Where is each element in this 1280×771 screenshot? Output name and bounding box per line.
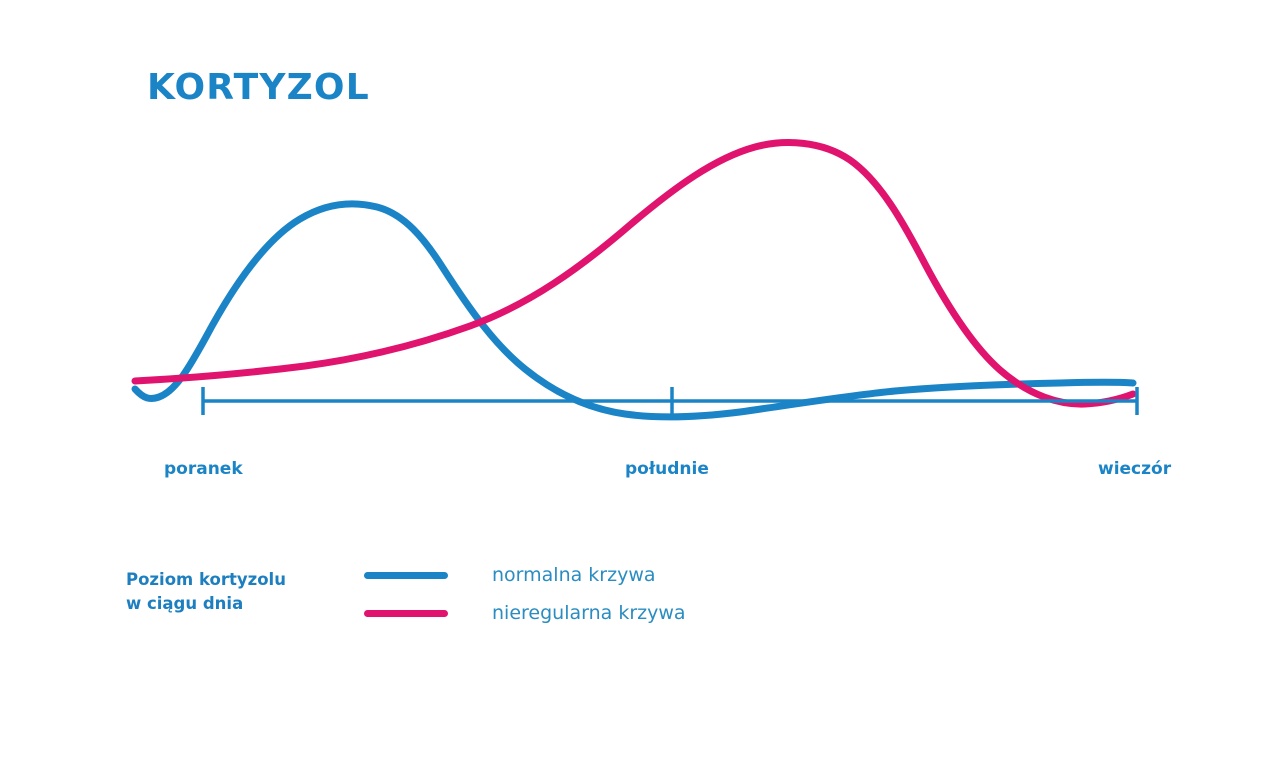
chart-legend: Poziom kortyzolu w ciągu dnia normalna k… (126, 560, 766, 640)
line-swatch-normal-icon (364, 572, 448, 579)
curve-nieregularna-krzywa (135, 143, 1133, 405)
curve-normalna-krzywa (135, 204, 1133, 417)
legend-title-line-1: Poziom kortyzolu (126, 570, 286, 589)
axis-label-poludnie: południe (625, 461, 709, 478)
axis-label-poranek: poranek (164, 461, 243, 478)
legend-title: Poziom kortyzolu w ciągu dnia (126, 568, 346, 616)
legend-label-normalna-krzywa: normalna krzywa (492, 562, 656, 589)
cortisol-infographic: KORTYZOL poranek południe wieczór Poziom… (0, 0, 1280, 771)
legend-title-line-2: w ciągu dnia (126, 592, 346, 616)
page-title: KORTYZOL (147, 70, 370, 106)
legend-items: normalna krzywa nieregularna krzywa (364, 560, 764, 636)
legend-item-normalna-krzywa: normalna krzywa (364, 560, 764, 598)
axis-label-wieczor: wieczór (1098, 461, 1171, 478)
line-swatch-irregular-icon (364, 610, 448, 617)
legend-label-nieregularna-krzywa: nieregularna krzywa (492, 600, 686, 627)
chart-canvas (0, 0, 1280, 771)
legend-item-nieregularna-krzywa: nieregularna krzywa (364, 598, 764, 636)
